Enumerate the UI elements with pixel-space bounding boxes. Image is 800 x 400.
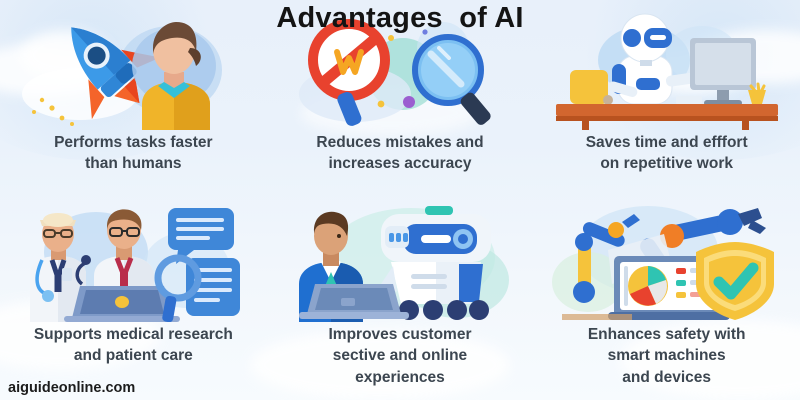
card-caption: Performs tasks faster than humans (8, 132, 258, 175)
pie-chart-icon (628, 266, 668, 306)
watermark-site-url: aiguideonline.com (8, 380, 135, 396)
laptop-icon (299, 284, 409, 319)
card-medical: Supports medical research and patient ca… (0, 196, 267, 400)
robot-arms-and-shield-illustration (552, 200, 782, 322)
card-safety: Enhances safety with smart machines and … (533, 196, 800, 400)
two-doctors-illustration (18, 200, 248, 322)
magnifying-glass-icon (415, 37, 493, 127)
card-caption: Improves customer sective and online exp… (275, 324, 525, 388)
infographic-poster: Advantages of AI (0, 0, 800, 400)
card-caption: Saves time and efffort on repetitive wor… (542, 132, 792, 175)
card-caption: Reduces mistakes and increases accuracy (275, 132, 525, 175)
card-caption: Enhances safety with smart machines and … (542, 324, 792, 388)
card-caption: Supports medical research and patient ca… (8, 324, 258, 367)
man-and-service-robot-illustration (285, 200, 515, 322)
page-title: Advantages of AI (0, 2, 800, 35)
card-service: Improves customer sective and online exp… (267, 196, 534, 400)
advantages-grid: Performs tasks faster than humans (0, 0, 800, 400)
monitor-icon (690, 38, 756, 106)
